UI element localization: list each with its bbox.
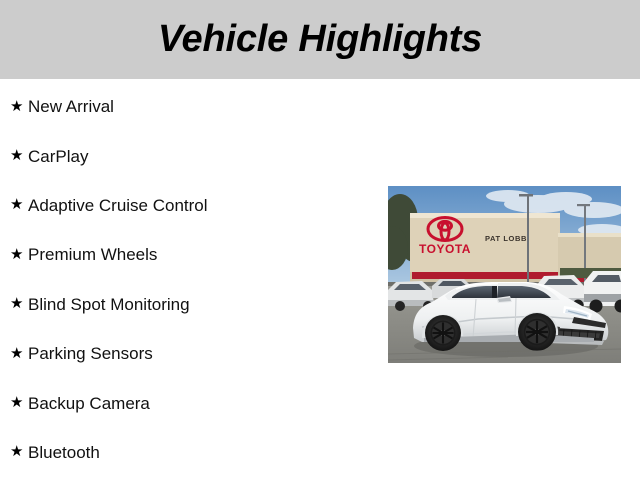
- star-icon: ★: [10, 346, 28, 361]
- star-icon: ★: [10, 99, 28, 114]
- list-item-label: Premium Wheels: [28, 246, 157, 263]
- vehicle-highlights-list: ★ New Arrival ★ CarPlay ★ Adaptive Cruis…: [0, 82, 380, 477]
- list-item-label: Adaptive Cruise Control: [28, 197, 208, 214]
- star-icon: ★: [10, 296, 28, 311]
- svg-text:PAT LOBB: PAT LOBB: [485, 234, 527, 243]
- list-item-label: Parking Sensors: [28, 345, 153, 362]
- list-item: ★ Adaptive Cruise Control: [0, 181, 380, 230]
- list-item: ★ CarPlay: [0, 131, 380, 180]
- list-item-label: CarPlay: [28, 148, 88, 165]
- vehicle-photo: TOYOTA PAT LOBB: [388, 186, 621, 363]
- list-item: ★ Blind Spot Monitoring: [0, 280, 380, 329]
- header-band: Vehicle Highlights: [0, 0, 640, 79]
- star-icon: ★: [10, 444, 28, 459]
- list-item-label: New Arrival: [28, 98, 114, 115]
- list-item-label: Blind Spot Monitoring: [28, 296, 190, 313]
- svg-text:TOYOTA: TOYOTA: [419, 242, 471, 256]
- star-icon: ★: [10, 247, 28, 262]
- star-icon: ★: [10, 395, 28, 410]
- list-item-label: Backup Camera: [28, 395, 150, 412]
- slide-root: Vehicle Highlights ★ New Arrival ★ CarPl…: [0, 0, 640, 480]
- star-icon: ★: [10, 148, 28, 163]
- star-icon: ★: [10, 197, 28, 212]
- page-title: Vehicle Highlights: [158, 20, 482, 58]
- list-item-label: Bluetooth: [28, 444, 100, 461]
- list-item: ★ Parking Sensors: [0, 329, 380, 378]
- list-item: ★ Backup Camera: [0, 378, 380, 427]
- list-item: ★ New Arrival: [0, 82, 380, 131]
- list-item: ★ Bluetooth: [0, 428, 380, 477]
- list-item: ★ Premium Wheels: [0, 230, 380, 279]
- vehicle-photo-image: TOYOTA PAT LOBB: [388, 186, 621, 363]
